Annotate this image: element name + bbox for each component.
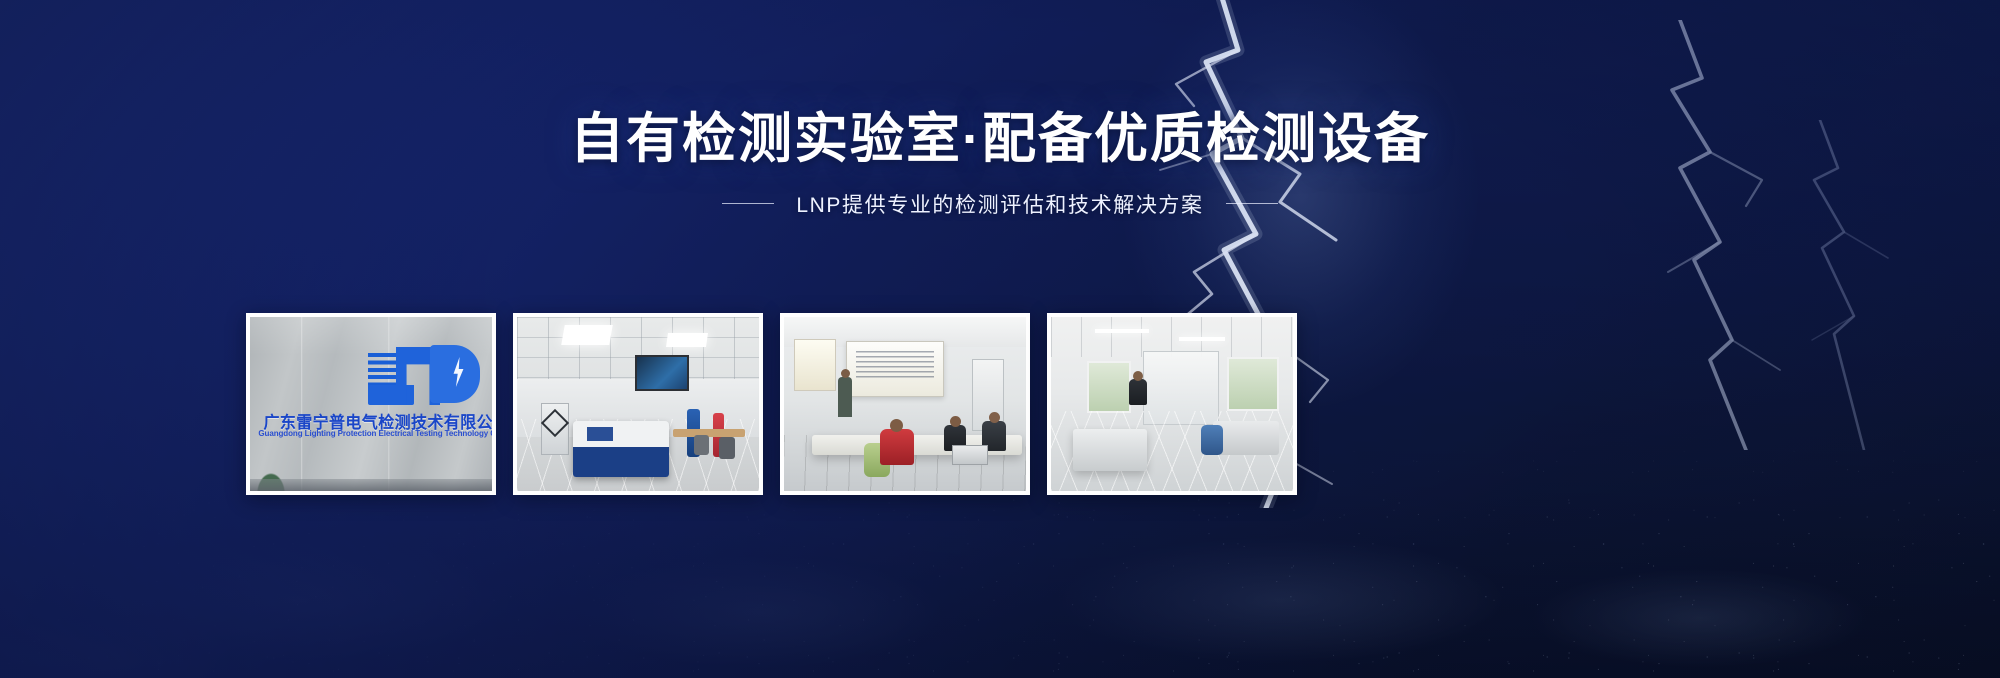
hero-banner: 自有检测实验室·配备优质检测设备 LNP提供专业的检测评估和技术解决方案 广东雷… xyxy=(0,0,2000,678)
chair xyxy=(694,435,709,455)
window xyxy=(1227,357,1279,411)
ceiling-light xyxy=(666,333,708,347)
photo-gallery-strip: 广东雷宁普电气检测技术有限公司 Guangdong Lighting Prote… xyxy=(246,313,1297,495)
office-photo xyxy=(1051,317,1293,491)
chair xyxy=(719,437,735,459)
floor-strip xyxy=(250,479,492,491)
photo-frame xyxy=(517,317,759,491)
person-at-desk xyxy=(1129,379,1147,405)
reception-desk xyxy=(1073,429,1147,471)
laptop xyxy=(952,445,988,465)
gallery-item-office-workspace[interactable] xyxy=(1047,313,1297,495)
logo-bars-decor xyxy=(368,353,396,387)
gallery-item-training-meeting-room[interactable] xyxy=(780,313,1030,495)
photo-frame xyxy=(784,317,1026,491)
lnp-logo-icon xyxy=(368,343,480,405)
photo-frame xyxy=(1051,317,1293,491)
headline-block: 自有检测实验室·配备优质检测设备 LNP提供专业的检测评估和技术解决方案 xyxy=(0,108,2000,219)
photo-frame: 广东雷宁普电气检测技术有限公司 Guangdong Lighting Prote… xyxy=(250,317,492,491)
person-presenting xyxy=(838,377,852,417)
ceiling-light xyxy=(1095,329,1149,333)
gallery-item-high-voltage-testing-lab[interactable] xyxy=(513,313,763,495)
window xyxy=(1087,361,1131,413)
logo-letter-l xyxy=(368,385,414,405)
office-chair xyxy=(1201,425,1223,455)
page-subtitle: LNP提供专业的检测评估和技术解决方案 xyxy=(796,189,1203,219)
ceiling-light xyxy=(561,325,613,345)
logo-letter-p-with-bolt-icon xyxy=(430,345,480,403)
projection-screen xyxy=(846,341,944,397)
rule-left-decor xyxy=(722,203,774,204)
person-seated-red-jacket xyxy=(880,429,914,465)
wall-monitor xyxy=(635,355,689,391)
window xyxy=(794,339,836,391)
signage-wall-photo: 广东雷宁普电气检测技术有限公司 Guangdong Lighting Prote… xyxy=(250,317,492,491)
gallery-item-company-signage-wall[interactable]: 广东雷宁普电气检测技术有限公司 Guangdong Lighting Prote… xyxy=(246,313,496,495)
page-title: 自有检测实验室·配备优质检测设备 xyxy=(0,108,2000,172)
control-console xyxy=(573,421,669,477)
ceiling-light xyxy=(1179,337,1225,341)
company-name-en: Guangdong Lighting Protection Electrical… xyxy=(258,429,491,438)
subtitle-row: LNP提供专业的检测评估和技术解决方案 xyxy=(0,189,2000,219)
testing-lab-photo xyxy=(517,317,759,491)
rule-right-decor xyxy=(1226,203,1278,204)
side-desk xyxy=(673,429,745,437)
meeting-room-photo xyxy=(784,317,1026,491)
